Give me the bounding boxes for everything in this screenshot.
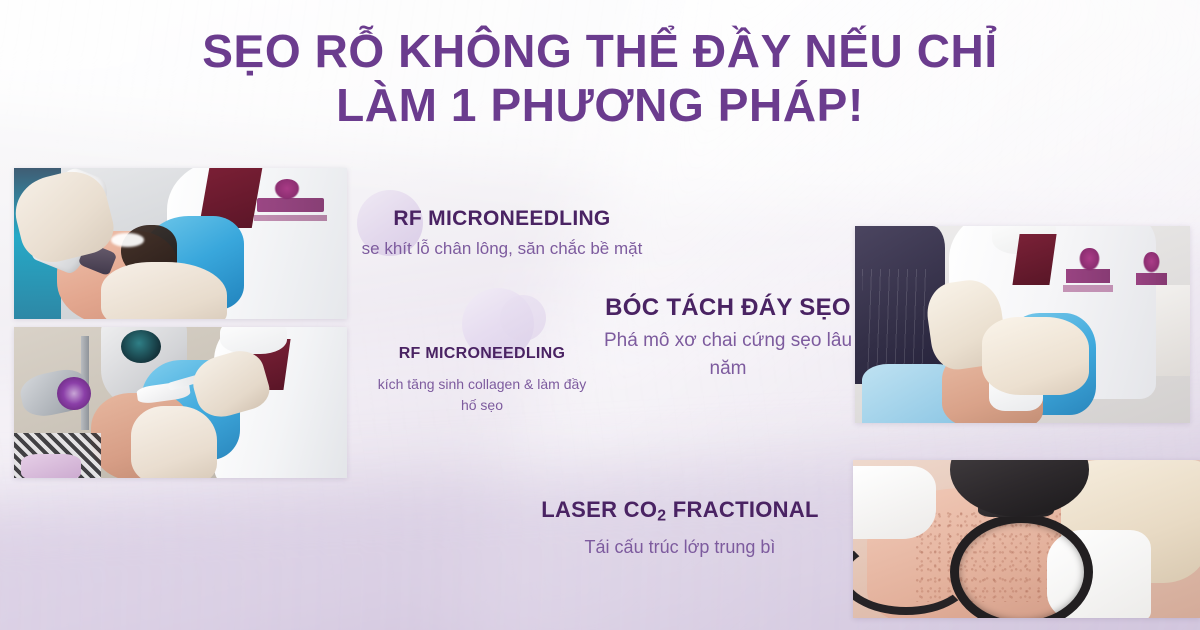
laser-heading-part2: FRACTIONAL: [666, 497, 818, 522]
photo-1-scene: [14, 168, 347, 319]
treatment-heading-laser-co2: LASER CO2 FRACTIONAL: [500, 495, 860, 531]
title-line-2: LÀM 1 PHƯƠNG PHÁP!: [0, 78, 1200, 132]
photo-2-scene: [14, 327, 347, 478]
photo-2-gloved-hand-lower: [131, 406, 218, 478]
treatment-body-rf-pores: se khít lỗ chân lông, săn chắc bề mặt: [352, 236, 652, 261]
treatment-heading-boc-tach: BÓC TÁCH ĐÁY SẸO: [588, 292, 868, 324]
decorative-circle-center-inner: [500, 295, 546, 341]
page-title: SẸO RỖ KHÔNG THỂ ĐẦY NẾU CHỈ LÀM 1 PHƯƠN…: [0, 24, 1200, 132]
photo-2-machine-lens: [121, 330, 161, 363]
photo-2-face-mask: [220, 327, 287, 354]
laser-heading-part1: LASER CO: [541, 497, 657, 522]
photo-3-chair-vents: [862, 269, 929, 371]
treatment-heading-rf-pores: RF MICRONEEDLING: [352, 205, 652, 233]
photo-2-handpiece-ring: [57, 377, 90, 410]
photo-1-brand-logo-mark: [274, 179, 301, 200]
photo-3-brand-logo-subtext: [1063, 285, 1113, 292]
photo-boc-tach-day-seo: [855, 226, 1190, 423]
photo-3-scene: [855, 226, 1190, 423]
photo-1-brand-logo-text: [257, 198, 324, 212]
title-line-1: SẸO RỖ KHÔNG THỂ ĐẦY NẾU CHỈ: [0, 24, 1200, 78]
photo-3-gloved-hand-lower: [982, 317, 1089, 396]
treatment-block-rf-microneedling-pores: RF MICRONEEDLING se khít lỗ chân lông, s…: [352, 205, 652, 261]
photo-1-brand-logo-subtext: [254, 215, 327, 221]
photo-1-gel-blob: [111, 233, 144, 247]
treatment-heading-rf-collagen: RF MICRONEEDLING: [372, 343, 592, 365]
photo-4-scene: [853, 460, 1200, 618]
treatment-block-laser-co2-fractional: LASER CO2 FRACTIONAL Tái cấu trúc lớp tr…: [500, 495, 860, 561]
photo-3-brand-logo-text-sleeve: [1136, 273, 1166, 285]
treatment-body-boc-tach: Phá mô xơ chai cứng sẹo lâu năm: [588, 327, 868, 383]
photo-1-gloved-hand-lower: [101, 262, 228, 319]
photo-3-inner-collar: [1012, 234, 1056, 285]
treatment-body-laser-co2: Tái cấu trúc lớp trung bì: [500, 534, 860, 561]
photo-injection-handpiece: [14, 327, 347, 478]
poster-canvas: SẸO RỖ KHÔNG THỂ ĐẦY NẾU CHỈ LÀM 1 PHƯƠN…: [0, 0, 1200, 630]
photo-4-towel-left: [853, 466, 936, 539]
treatment-block-boc-tach-day-seo: BÓC TÁCH ĐÁY SẸO Phá mô xơ chai cứng sẹo…: [588, 292, 868, 383]
treatment-block-rf-microneedling-collagen: RF MICRONEEDLING kích tăng sinh collagen…: [372, 343, 592, 416]
photo-3-brand-logo-mark-sleeve: [1143, 252, 1160, 274]
treatment-body-rf-collagen: kích tăng sinh collagen & làm đầy hố sẹo: [372, 374, 592, 416]
photo-3-brand-logo-mark: [1079, 248, 1099, 272]
photo-rf-microneedling-forehead: [14, 168, 347, 319]
photo-3-brand-logo-text: [1066, 269, 1110, 283]
photo-laser-co2-closeup: [853, 460, 1200, 618]
photo-2-pillow: [21, 454, 81, 478]
